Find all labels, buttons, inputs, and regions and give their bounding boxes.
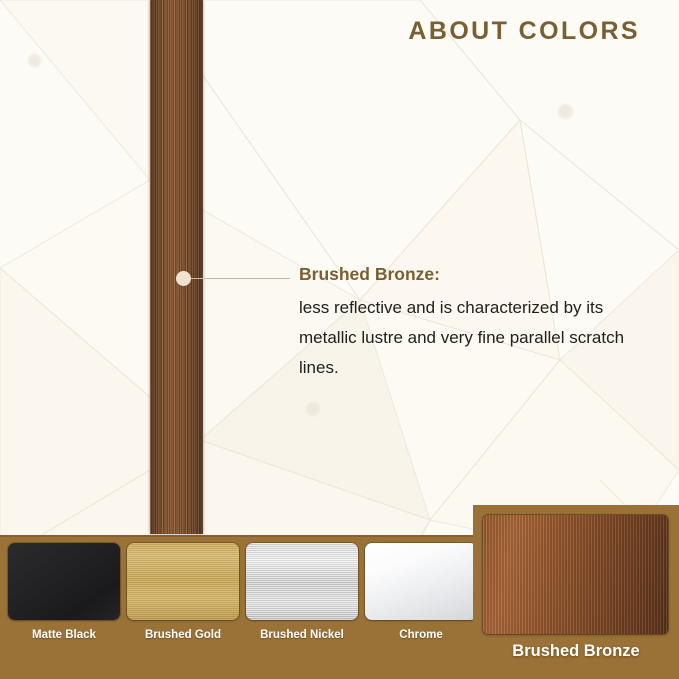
description-block: Brushed Bronze: less reflective and is c… xyxy=(299,264,659,384)
featured-swatch-brushed-bronze[interactable]: Brushed Bronze xyxy=(473,505,679,679)
swatch-label-chrome: Chrome xyxy=(365,629,477,641)
featured-swatch-label: Brushed Bronze xyxy=(473,642,679,661)
description-body: less reflective and is characterized by … xyxy=(299,293,659,384)
about-colors-infographic: ABOUT COLORS Brushed Bronze: less reflec… xyxy=(0,0,679,679)
swatch-label-brushed-nickel: Brushed Nickel xyxy=(246,629,358,641)
background-dot-1 xyxy=(28,54,41,67)
featured-swatch-chip[interactable] xyxy=(483,515,668,634)
brushed-bronze-product-bar xyxy=(150,0,203,534)
callout-line xyxy=(190,278,290,279)
description-title: Brushed Bronze: xyxy=(299,264,659,286)
background-dot-2 xyxy=(558,104,573,119)
swatch-chip-matte-black[interactable] xyxy=(8,543,120,620)
swatch-chip-chrome[interactable] xyxy=(365,543,477,620)
callout-dot xyxy=(176,271,191,286)
swatch-brushed-nickel[interactable]: Brushed Nickel xyxy=(246,543,358,641)
callout xyxy=(176,271,291,287)
swatch-label-matte-black: Matte Black xyxy=(8,629,120,641)
page-title: ABOUT COLORS xyxy=(408,17,640,46)
swatch-chrome[interactable]: Chrome xyxy=(365,543,477,641)
swatch-brushed-gold[interactable]: Brushed Gold xyxy=(127,543,239,641)
swatch-chip-brushed-nickel[interactable] xyxy=(246,543,358,620)
background-dot-3 xyxy=(306,402,320,416)
swatch-chip-brushed-gold[interactable] xyxy=(127,543,239,620)
swatch-matte-black[interactable]: Matte Black xyxy=(8,543,120,641)
swatch-label-brushed-gold: Brushed Gold xyxy=(127,629,239,641)
